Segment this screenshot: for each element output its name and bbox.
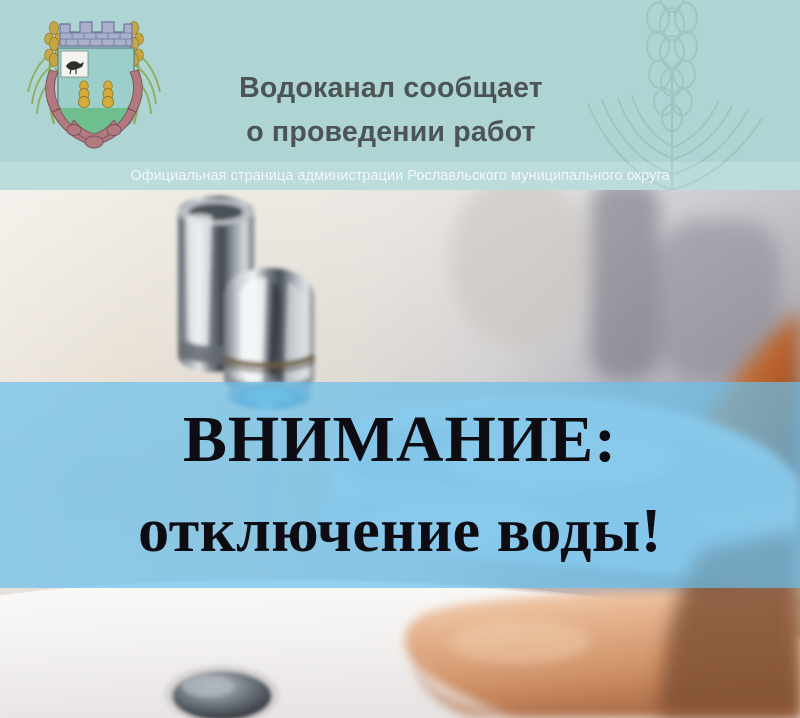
header-subtitle: Официальная страница администрации Росла…: [130, 168, 669, 184]
header-title-line-2: о проведении работ: [176, 110, 606, 154]
page-header: Водоканал сообщает о проведении работ Оф…: [0, 0, 800, 190]
header-title-line-1: Водоканал сообщает: [176, 66, 606, 110]
header-title-block: Водоканал сообщает о проведении работ: [176, 66, 606, 154]
photo-illustration: [0, 190, 800, 718]
coat-of-arms-emblem-icon: [14, 8, 174, 170]
mural-crown: [60, 22, 132, 46]
photo-faucet-hand: [0, 190, 800, 718]
announcement-poster: Водоканал сообщает о проведении работ Оф…: [0, 0, 800, 718]
header-subtitle-band: Официальная страница администрации Росла…: [0, 162, 800, 190]
